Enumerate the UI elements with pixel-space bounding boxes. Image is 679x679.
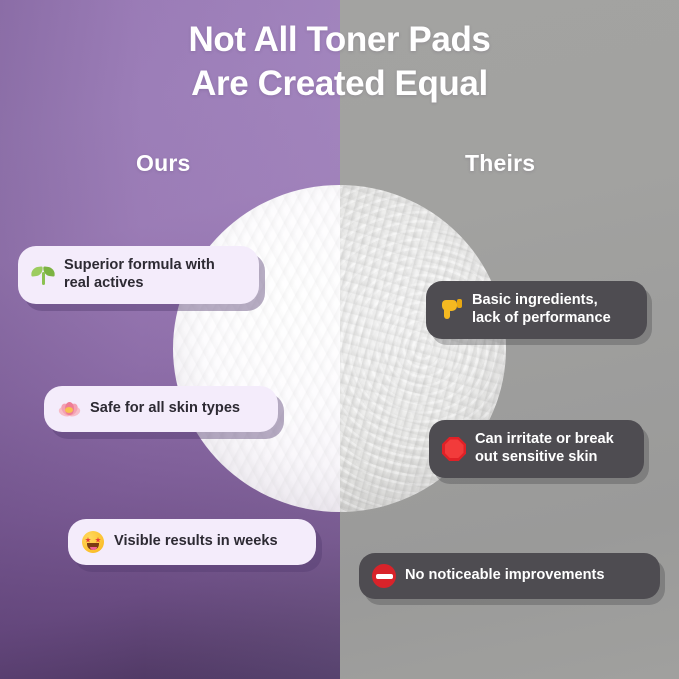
theirs-drawback-item-2: Can irritate or break out sensitive skin bbox=[429, 420, 644, 478]
thumbs-down-icon bbox=[439, 298, 463, 322]
theirs-drawback-label-3: No noticeable improvements bbox=[405, 567, 605, 585]
theirs-drawback-item-1: Basic ingredients, lack of performance bbox=[426, 281, 647, 339]
stop-sign-icon bbox=[442, 437, 466, 461]
theirs-drawback-item-3: No noticeable improvements bbox=[359, 553, 660, 599]
title-line-1: Not All Toner Pads bbox=[0, 18, 679, 62]
theirs-drawback-label-1: Basic ingredients, lack of performance bbox=[472, 292, 611, 328]
lotus-icon bbox=[57, 397, 81, 421]
title-line-2: Are Created Equal bbox=[0, 62, 679, 106]
page-title: Not All Toner Pads Are Created Equal bbox=[0, 18, 679, 106]
theirs-drawback-label-2: Can irritate or break out sensitive skin bbox=[475, 431, 614, 467]
no-entry-icon bbox=[372, 564, 396, 588]
ours-benefit-item-1: Superior formula with real actives bbox=[18, 246, 259, 304]
star-struck-icon bbox=[81, 530, 105, 554]
ours-benefit-label-1: Superior formula with real actives bbox=[64, 257, 215, 293]
ours-benefit-item-3: Visible results in weeks bbox=[68, 519, 316, 565]
column-header-theirs: Theirs bbox=[465, 150, 535, 177]
column-header-ours: Ours bbox=[136, 150, 190, 177]
ours-benefit-item-2: Safe for all skin types bbox=[44, 386, 278, 432]
seedling-icon bbox=[31, 263, 55, 287]
ours-benefit-label-3: Visible results in weeks bbox=[114, 533, 278, 551]
comparison-infographic: Not All Toner Pads Are Created Equal Our… bbox=[0, 0, 679, 679]
ours-benefit-label-2: Safe for all skin types bbox=[90, 400, 240, 418]
